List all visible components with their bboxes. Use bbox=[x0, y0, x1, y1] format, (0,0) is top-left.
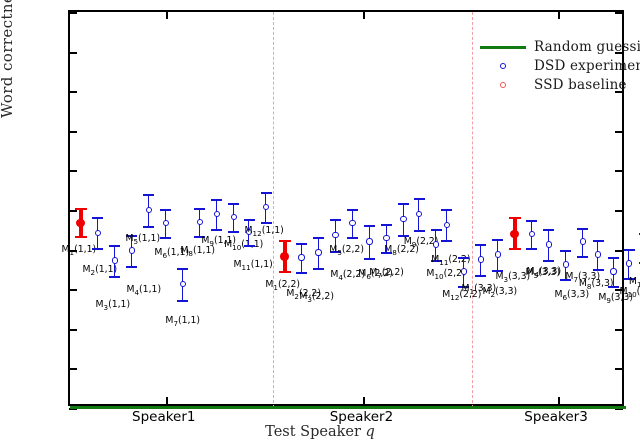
point-label: M1(1,1) bbox=[61, 244, 96, 257]
error-bar-cap-lower bbox=[593, 269, 604, 271]
point-label: M4(1,1) bbox=[126, 284, 161, 297]
error-bar-cap-lower bbox=[347, 237, 358, 239]
error-bar-cap-lower bbox=[211, 229, 222, 231]
error-bar-cap-upper bbox=[381, 224, 392, 226]
error-bar-cap-upper bbox=[211, 199, 222, 201]
data-marker bbox=[495, 251, 501, 257]
legend-item: SSD baseline bbox=[474, 76, 640, 95]
y-tick bbox=[615, 250, 623, 252]
data-marker bbox=[146, 207, 152, 213]
data-marker bbox=[163, 220, 169, 226]
speaker-group-label: Speaker3 bbox=[524, 409, 588, 425]
error-bar-cap-upper bbox=[313, 237, 324, 239]
y-tick bbox=[69, 170, 77, 172]
point-label: M11(3,3) bbox=[629, 276, 640, 289]
data-marker bbox=[529, 231, 535, 237]
error-bar-cap-lower bbox=[143, 226, 154, 228]
plot-area: M1(1,1)M2(1,1)M3(1,1)M4(1,1)M5(1,1)M6(1,… bbox=[68, 10, 624, 406]
error-bar-cap-upper bbox=[441, 209, 452, 211]
point-label: M3(1,1) bbox=[95, 299, 130, 312]
data-marker bbox=[298, 254, 304, 260]
error-bar-cap-lower bbox=[509, 248, 521, 250]
y-tick bbox=[615, 170, 623, 172]
y-tick bbox=[615, 12, 623, 14]
data-marker bbox=[610, 268, 616, 274]
legend-circle-icon bbox=[500, 82, 506, 88]
legend-item: Random guessing bbox=[474, 38, 640, 57]
point-label: M5(2,2) bbox=[329, 244, 364, 257]
error-bar-cap-lower bbox=[543, 260, 554, 262]
error-bar-cap-upper bbox=[414, 198, 425, 200]
error-bar-cap-upper bbox=[177, 268, 188, 270]
data-marker bbox=[400, 216, 406, 222]
error-bar-cap-upper bbox=[608, 257, 619, 259]
legend-circle-icon bbox=[500, 63, 506, 69]
data-marker bbox=[263, 204, 269, 210]
data-marker bbox=[563, 261, 569, 267]
data-marker bbox=[180, 281, 186, 287]
error-bar-cap-lower bbox=[109, 276, 120, 278]
error-bar-cap-lower bbox=[414, 230, 425, 232]
data-marker bbox=[461, 268, 467, 274]
error-bar-cap-upper bbox=[492, 239, 503, 241]
error-bar-cap-lower bbox=[75, 236, 87, 238]
point-label: M5(3,3) bbox=[525, 267, 560, 280]
data-marker bbox=[478, 256, 484, 262]
y-tick bbox=[615, 329, 623, 331]
data-marker bbox=[214, 211, 220, 217]
data-marker bbox=[231, 214, 237, 220]
y-tick bbox=[615, 131, 623, 133]
y-tick bbox=[615, 368, 623, 370]
error-bar-cap-lower bbox=[228, 231, 239, 233]
y-tick bbox=[69, 12, 77, 14]
legend-item: DSD experiments bbox=[474, 57, 640, 76]
legend-key bbox=[474, 38, 530, 57]
error-bar-cap-upper bbox=[543, 229, 554, 231]
data-marker bbox=[332, 232, 338, 238]
error-bar-cap-upper bbox=[526, 220, 537, 222]
y-axis-title: Word correctness, C% bbox=[0, 0, 16, 118]
error-bar-cap-upper bbox=[261, 192, 272, 194]
data-marker bbox=[510, 230, 519, 239]
data-marker bbox=[433, 241, 439, 247]
x-tick bbox=[558, 11, 560, 19]
data-marker bbox=[76, 219, 85, 228]
y-tick bbox=[69, 91, 77, 93]
x-tick bbox=[558, 397, 560, 405]
error-bar-cap-upper bbox=[109, 245, 120, 247]
point-label: M11(1,1) bbox=[234, 259, 273, 272]
error-bar-cap-upper bbox=[458, 257, 469, 259]
speaker-group-label: Speaker2 bbox=[330, 409, 394, 425]
error-bar-cap-lower bbox=[92, 248, 103, 250]
data-marker bbox=[315, 249, 321, 255]
x-tick bbox=[166, 11, 168, 19]
x-tick bbox=[166, 397, 168, 405]
error-bar-cap-upper bbox=[593, 240, 604, 242]
error-bar-cap-upper bbox=[244, 219, 255, 221]
y-tick bbox=[69, 210, 77, 212]
error-bar-cap-lower bbox=[126, 266, 137, 268]
error-bar-cap-lower bbox=[475, 275, 486, 277]
y-tick bbox=[69, 289, 77, 291]
point-label: M3(2,2) bbox=[299, 291, 334, 304]
error-bar-cap-upper bbox=[330, 219, 341, 221]
error-bar-cap-upper bbox=[577, 228, 588, 230]
y-tick bbox=[69, 52, 77, 54]
y-tick bbox=[69, 368, 77, 370]
error-bar-cap-lower bbox=[526, 248, 537, 250]
point-label: M2(3,3) bbox=[482, 286, 517, 299]
speaker-group-label: Speaker1 bbox=[132, 409, 196, 425]
point-label: M7(2,2) bbox=[369, 267, 404, 280]
error-bar-cap-upper bbox=[194, 208, 205, 210]
error-bar-cap-upper bbox=[431, 229, 442, 231]
y-tick bbox=[69, 131, 77, 133]
legend: Random guessingDSD experimentsSSD baseli… bbox=[474, 38, 640, 95]
data-marker bbox=[197, 219, 203, 225]
group-separator bbox=[273, 12, 274, 408]
point-label: M5(1,1) bbox=[125, 233, 160, 246]
data-marker bbox=[366, 238, 372, 244]
legend-key bbox=[474, 57, 530, 76]
data-marker bbox=[280, 252, 289, 261]
error-bar-cap-lower bbox=[577, 256, 588, 258]
legend-line-icon bbox=[480, 46, 526, 49]
point-label: M7(1,1) bbox=[165, 315, 200, 328]
data-marker bbox=[383, 235, 389, 241]
error-bar-cap-upper bbox=[143, 194, 154, 196]
data-marker bbox=[595, 251, 601, 257]
error-bar-cap-upper bbox=[92, 217, 103, 219]
legend-label: Random guessing bbox=[534, 39, 640, 55]
error-bar-cap-lower bbox=[244, 245, 255, 247]
error-bar-cap-upper bbox=[296, 243, 307, 245]
error-bar-cap-upper bbox=[509, 217, 521, 219]
error-bar-cap-upper bbox=[160, 209, 171, 211]
y-tick bbox=[615, 210, 623, 212]
point-label: M12(1,1) bbox=[245, 225, 284, 238]
error-bar-cap-lower bbox=[364, 258, 375, 260]
error-bar-cap-upper bbox=[398, 203, 409, 205]
data-marker bbox=[546, 241, 552, 247]
data-marker bbox=[444, 222, 450, 228]
data-marker bbox=[580, 238, 586, 244]
legend-label: SSD baseline bbox=[534, 77, 627, 93]
data-marker bbox=[112, 257, 118, 263]
error-bar-cap-lower bbox=[608, 286, 619, 288]
error-bar-cap-upper bbox=[279, 240, 291, 242]
x-tick bbox=[363, 397, 365, 405]
y-axis-title-text: Word correctness, bbox=[0, 0, 16, 118]
error-bar-cap-lower bbox=[261, 222, 272, 224]
error-bar-cap-upper bbox=[364, 225, 375, 227]
y-tick bbox=[69, 329, 77, 331]
error-bar-cap-lower bbox=[313, 268, 324, 270]
point-label: M10(2,2) bbox=[426, 268, 465, 281]
data-marker bbox=[626, 260, 632, 266]
legend-label: DSD experiments bbox=[534, 58, 640, 74]
error-bar-cap-upper bbox=[228, 203, 239, 205]
data-marker bbox=[129, 247, 135, 253]
error-bar-cap-lower bbox=[296, 272, 307, 274]
error-bar-cap-upper bbox=[75, 208, 87, 210]
error-bar-cap-lower bbox=[160, 237, 171, 239]
data-marker bbox=[416, 211, 422, 217]
error-bar-cap-lower bbox=[279, 271, 291, 273]
error-bar-cap-lower bbox=[177, 300, 188, 302]
error-bar-cap-upper bbox=[624, 249, 635, 251]
error-bar-cap-upper bbox=[560, 250, 571, 252]
data-marker bbox=[349, 220, 355, 226]
error-bar-cap-lower bbox=[441, 240, 452, 242]
chart-figure: Word correctness, C% Test Speaker q M1(1… bbox=[0, 0, 640, 438]
point-label: M2(1,1) bbox=[82, 264, 117, 277]
data-marker bbox=[95, 230, 101, 236]
error-bar-cap-upper bbox=[475, 244, 486, 246]
error-bar-cap-upper bbox=[347, 209, 358, 211]
point-label: M8(3,3) bbox=[579, 278, 614, 291]
x-tick bbox=[363, 11, 365, 19]
legend-key bbox=[474, 76, 530, 95]
